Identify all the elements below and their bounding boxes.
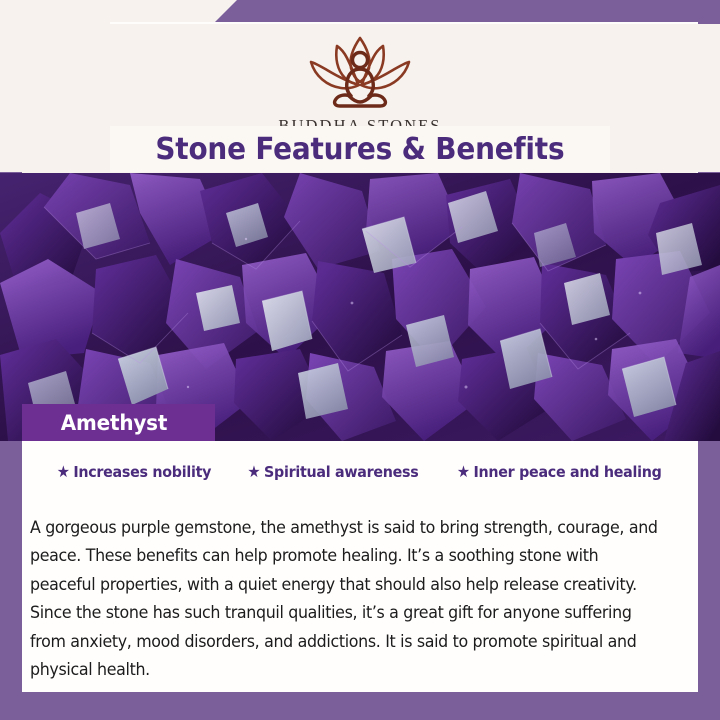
brand-logo: BUDDHA STONES (0, 30, 720, 136)
benefit-label-3: Inner peace and healing (473, 463, 661, 481)
frame-bottom-border (0, 692, 720, 720)
benefit-label-2: Spiritual awareness (264, 463, 418, 481)
stone-name-bar: Amethyst (22, 404, 215, 441)
benefit-item-1: ★ Increases nobility (57, 463, 211, 481)
stone-description: A gorgeous purple gemstone, the amethyst… (30, 514, 664, 685)
benefits-list: ★ Increases nobility ★ Spiritual awarene… (22, 463, 698, 481)
benefit-label-1: Increases nobility (73, 463, 211, 481)
content-panel-inner: ★ Increases nobility ★ Spiritual awarene… (22, 441, 698, 692)
stone-name-label: Amethyst (61, 411, 167, 435)
amethyst-crystal-cluster-photo (0, 173, 720, 441)
star-icon: ★ (57, 464, 70, 480)
star-icon: ★ (247, 464, 260, 480)
lotus-meditation-icon (275, 30, 445, 114)
star-icon: ★ (457, 464, 470, 480)
hero-image (0, 173, 720, 441)
benefit-item-2: ★ Spiritual awareness (247, 463, 418, 481)
benefit-item-3: ★ Inner peace and healing (457, 463, 662, 481)
frame-top-border (215, 0, 720, 22)
title-banner: Stone Features & Benefits (110, 126, 610, 172)
content-panel: ★ Increases nobility ★ Spiritual awarene… (22, 441, 698, 692)
product-info-card: BUDDHA STONES Stone Features & Benefits (0, 0, 720, 720)
page-title: Stone Features & Benefits (156, 132, 565, 167)
